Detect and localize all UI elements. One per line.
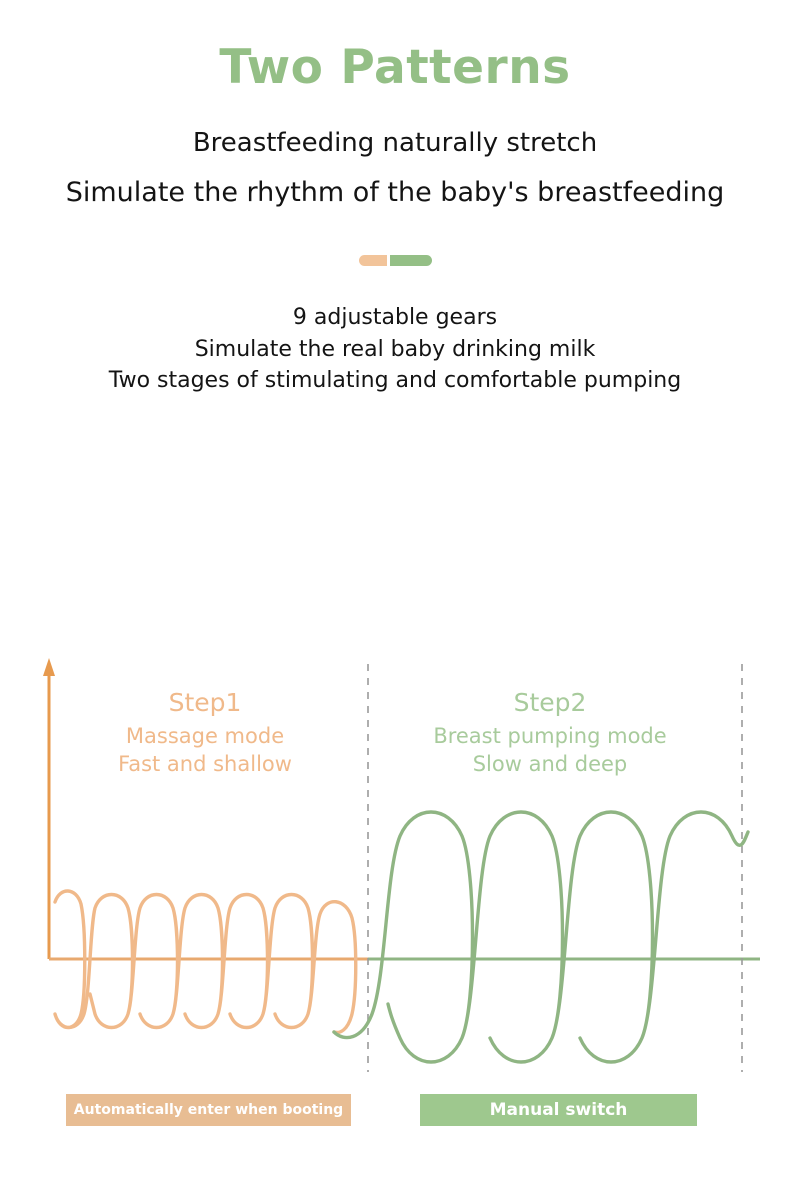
divider-segment-green (390, 255, 432, 266)
feature-item-1: 9 adjustable gears (0, 302, 790, 333)
waveform-step2 (334, 812, 748, 1062)
step2-mode-tag: Manual switch (420, 1094, 697, 1126)
page-root: Two Patterns Breastfeeding naturally str… (0, 42, 790, 1177)
feature-list: 9 adjustable gears Simulate the real bab… (0, 302, 790, 396)
subtitle-line-2: Simulate the rhythm of the baby's breast… (0, 177, 790, 209)
waveform-svg (0, 642, 790, 1152)
feature-item-2: Simulate the real baby drinking milk (0, 334, 790, 365)
divider-pill-group (359, 255, 432, 266)
subtitle-line-1: Breastfeeding naturally stretch (0, 128, 790, 159)
waveform-step1 (55, 891, 356, 1032)
waveform-diagram: Step1 Massage mode Fast and shallow Step… (0, 642, 790, 1152)
y-axis (43, 658, 55, 959)
divider-segment-orange (359, 255, 387, 266)
feature-item-3: Two stages of stimulating and comfortabl… (0, 365, 790, 396)
step1-mode-tag: Automatically enter when booting (66, 1094, 351, 1126)
decorative-divider (0, 255, 790, 266)
page-title: Two Patterns (0, 42, 790, 94)
